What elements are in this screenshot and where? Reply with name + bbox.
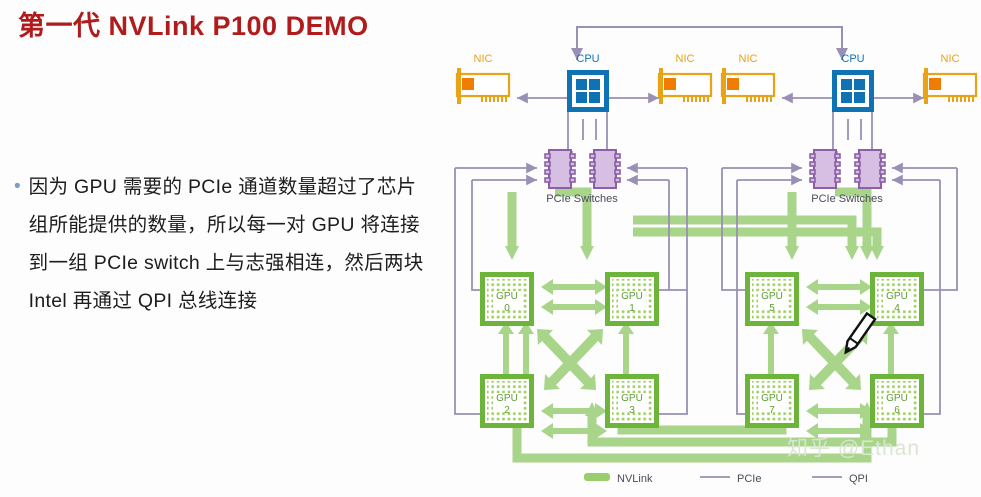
svg-text:GPU: GPU: [886, 291, 908, 302]
gpu-node-3: GPU 3: [605, 374, 659, 428]
gpu-node-2: GPU 2: [480, 374, 534, 428]
svg-text:PCIe: PCIe: [737, 473, 761, 485]
svg-text:NIC: NIC: [676, 53, 695, 65]
svg-text:PCIe Switches: PCIe Switches: [546, 193, 618, 205]
legend: NVLink PCIe QPI: [584, 473, 868, 485]
slide-canvas: 第一代 NVLink P100 DEMO • 因为 GPU 需要的 PCIe 通…: [0, 0, 981, 497]
gpu-node-5: GPU 5: [745, 272, 799, 326]
svg-text:GPU: GPU: [496, 393, 518, 404]
nic-right-outer: NIC: [924, 53, 976, 104]
pencil-cursor: [842, 313, 875, 355]
gpu-node-6: GPU 6: [870, 374, 924, 428]
nic-right-inner: NIC: [722, 53, 774, 104]
nic-left-outer: NIC: [457, 53, 509, 104]
page-title: 第一代 NVLink P100 DEMO: [18, 4, 369, 43]
svg-text:5: 5: [769, 303, 775, 314]
qpi-bus: [577, 27, 842, 60]
svg-text:PCIe Switches: PCIe Switches: [811, 193, 883, 205]
cpu-right: CPU: [832, 53, 874, 112]
svg-text:NIC: NIC: [739, 53, 758, 65]
svg-text:7: 7: [769, 405, 775, 416]
nic-left-inner: NIC: [659, 53, 711, 104]
gpu-node-0: GPU 0: [480, 272, 534, 326]
pcie-switches-left: PCIe Switches: [545, 150, 620, 205]
svg-text:NVLink: NVLink: [617, 473, 653, 485]
svg-text:2: 2: [504, 405, 510, 416]
gpu-node-7: GPU 7: [745, 374, 799, 428]
svg-text:GPU: GPU: [886, 393, 908, 404]
svg-text:GPU: GPU: [761, 291, 783, 302]
bullet-paragraph: • 因为 GPU 需要的 PCIe 通道数量超过了芯片组所能提供的数量，所以每一…: [14, 168, 434, 320]
bullet-text: 因为 GPU 需要的 PCIe 通道数量超过了芯片组所能提供的数量，所以每一对 …: [29, 168, 434, 320]
cpu-left: CPU: [567, 53, 609, 112]
svg-text:NIC: NIC: [474, 53, 493, 65]
svg-text:QPI: QPI: [849, 473, 868, 485]
svg-text:GPU: GPU: [621, 393, 643, 404]
svg-text:GPU: GPU: [496, 291, 518, 302]
gpu-node-4: GPU 4: [870, 272, 924, 326]
svg-text:6: 6: [894, 405, 900, 416]
svg-text:4: 4: [894, 303, 900, 314]
svg-text:GPU: GPU: [761, 393, 783, 404]
gpu-node-1: GPU 1: [605, 272, 659, 326]
svg-text:NIC: NIC: [941, 53, 960, 65]
svg-text:0: 0: [504, 303, 510, 314]
nvlink-topology-diagram: NIC NIC NIC NIC CPU CPU PCIe Switche: [437, 22, 981, 497]
pcie-switches-right: PCIe Switches: [810, 150, 885, 205]
svg-text:GPU: GPU: [621, 291, 643, 302]
svg-text:3: 3: [629, 405, 635, 416]
bullet-marker: •: [14, 168, 21, 320]
svg-text:CPU: CPU: [576, 53, 599, 65]
svg-text:CPU: CPU: [841, 53, 864, 65]
svg-text:1: 1: [629, 303, 635, 314]
